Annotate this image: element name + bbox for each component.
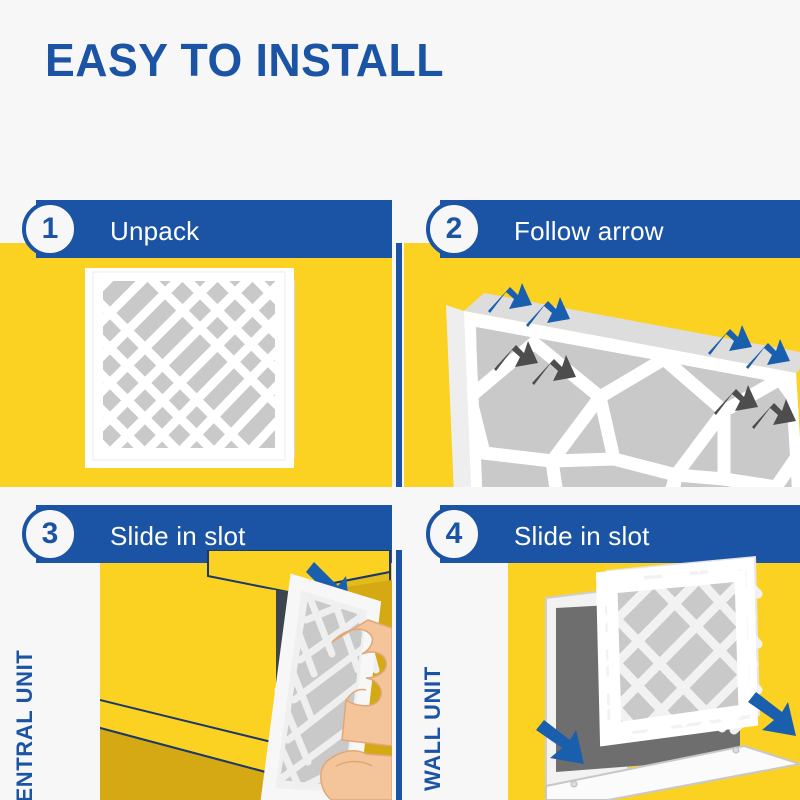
- step-3-badge: 3: [22, 506, 78, 562]
- step-1-label: Unpack: [110, 216, 199, 247]
- page-title: EASY TO INSTALL: [45, 33, 444, 87]
- filter-panel: [600, 556, 760, 742]
- step-2-number: 2: [446, 214, 463, 244]
- step-2-illustration: [424, 247, 800, 487]
- step-panel-3: 3 Slide in slot CENTRAL UNIT: [0, 495, 396, 800]
- step-panel-1: 1 Unpack: [0, 185, 396, 487]
- step-3-side-label: CENTRAL UNIT: [12, 650, 38, 800]
- step-4-side-label: WALL UNIT: [420, 666, 446, 791]
- divider-vertical-top: [396, 243, 402, 487]
- step-1-illustration: [85, 268, 305, 468]
- infographic-root: EASY TO INSTALL 1: [0, 0, 800, 800]
- step-4-number: 4: [446, 519, 463, 549]
- step-3-number: 3: [42, 519, 59, 549]
- step-4-label: Slide in slot: [514, 521, 650, 552]
- step-panel-2: 2 Follow arrow: [404, 185, 800, 487]
- step-3-label: Slide in slot: [110, 521, 246, 552]
- step-3-illustration: [100, 550, 392, 800]
- step-4-illustration: [508, 550, 800, 800]
- divider-vertical-bottom: [396, 550, 402, 800]
- step-1-number: 1: [42, 214, 59, 244]
- step-panel-4: 4 Slide in slot WALL UNIT: [404, 495, 800, 800]
- step-4-badge: 4: [426, 506, 482, 562]
- hand-lower: [321, 751, 392, 800]
- step-1-header-bar: [36, 200, 392, 258]
- step-2-label: Follow arrow: [514, 216, 664, 247]
- step-1-badge: 1: [22, 201, 78, 257]
- step-2-badge: 2: [426, 201, 482, 257]
